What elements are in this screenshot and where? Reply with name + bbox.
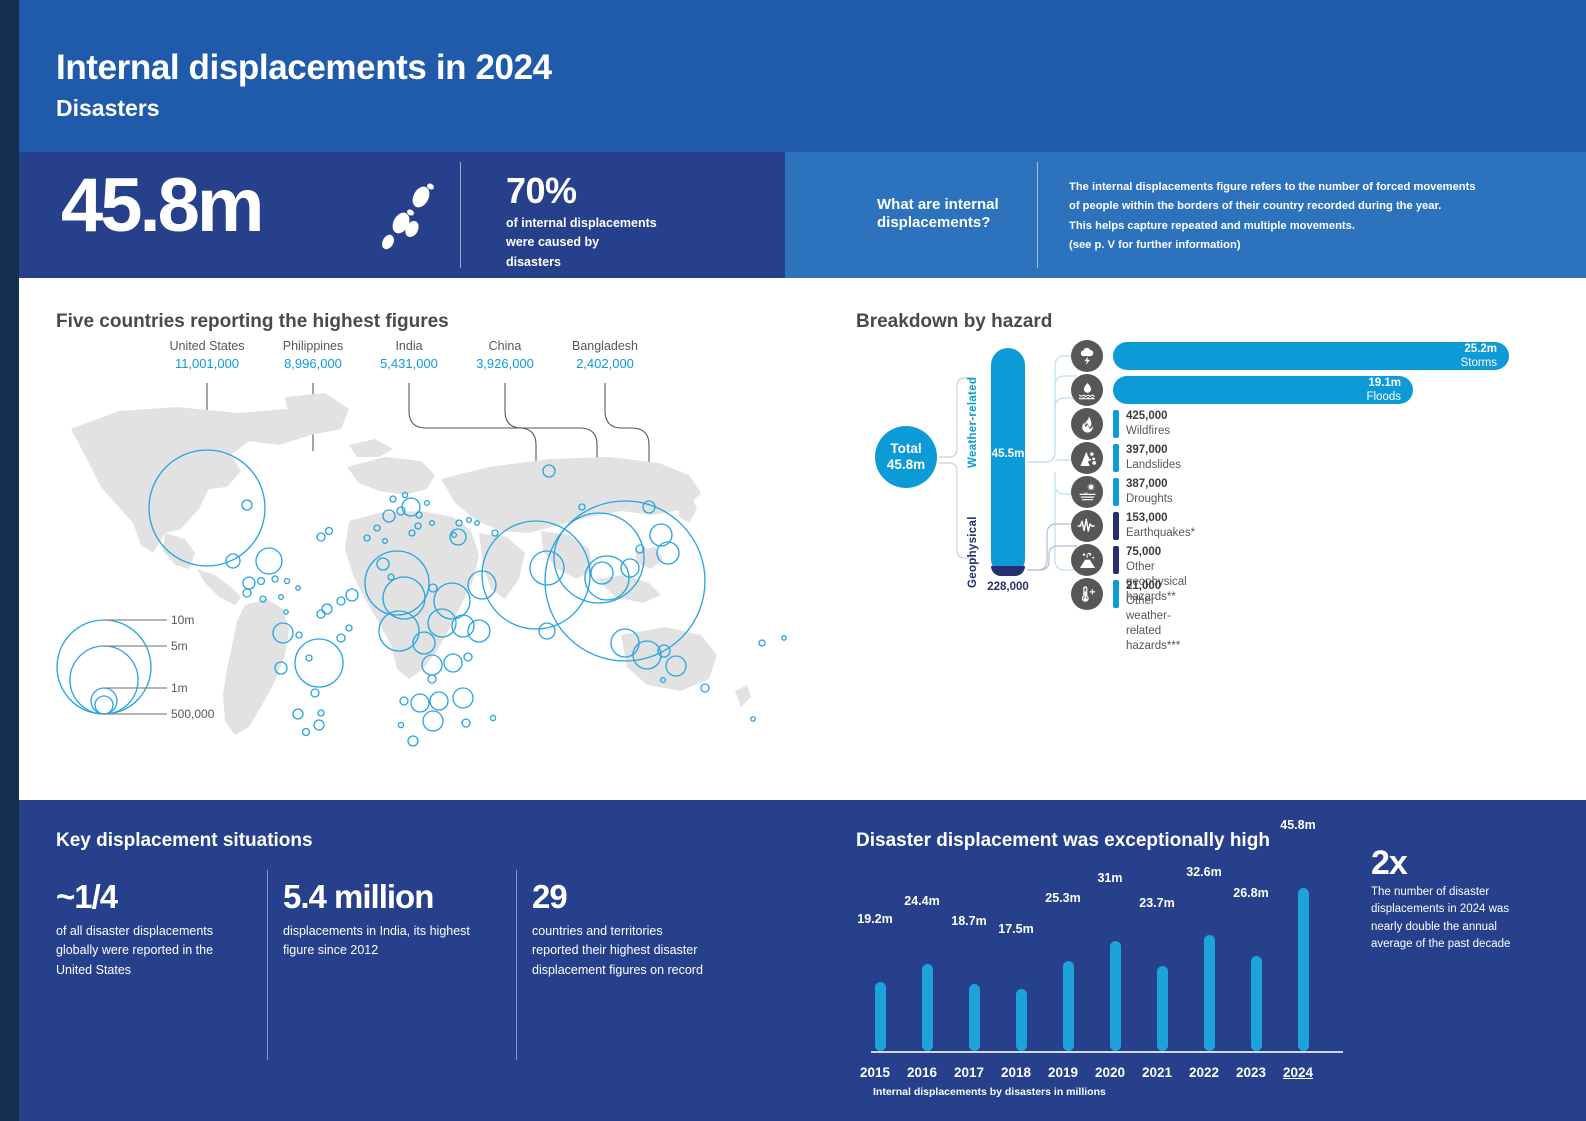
legend-label-500000: 500,000 bbox=[171, 707, 214, 721]
key-item-countries: 29 countries and territories reported th… bbox=[532, 880, 712, 981]
key-item-text: countries and territories reported their… bbox=[532, 922, 712, 981]
bar-2022 bbox=[1204, 935, 1215, 1051]
key-situations-title: Key displacement situations bbox=[56, 830, 313, 852]
earthquakes-name: Earthquakes* bbox=[1126, 526, 1195, 541]
landslides-value: 397,000 bbox=[1126, 443, 1181, 458]
country-callout-bangladesh: Bangladesh 2,402,000 bbox=[535, 338, 675, 372]
earthquakes-bar bbox=[1113, 512, 1119, 540]
bar-value-2019: 25.3m bbox=[1035, 891, 1091, 905]
landslides-name: Landslides bbox=[1126, 458, 1181, 473]
percent-stat: 70% of internal displacements were cause… bbox=[506, 172, 756, 272]
landslides-label: 397,000 Landslides bbox=[1126, 443, 1181, 473]
bar-year-2024: 2024 bbox=[1270, 1065, 1326, 1080]
floods-bar: 19.1m Floods bbox=[1113, 376, 1413, 404]
weather-related-total: 45.5m bbox=[991, 448, 1025, 460]
bar-value-2024: 45.8m bbox=[1270, 818, 1326, 832]
header-banner: Internal displacements in 2024 Disasters bbox=[19, 0, 1586, 152]
hazard-breakdown: Total 45.8m bbox=[839, 338, 1579, 608]
whatis-line-1: of people within the borders of their co… bbox=[1069, 197, 1569, 216]
what-are-internal-displacements-heading: What are internal displacements? bbox=[877, 196, 1047, 233]
floods-name: Floods bbox=[1113, 391, 1401, 405]
map-canvas bbox=[49, 383, 829, 783]
infographic-page: Internal displacements in 2024 Disasters… bbox=[0, 0, 1586, 1121]
bar-2017 bbox=[969, 984, 980, 1051]
earthquakes-label: 153,000 Earthquakes* bbox=[1126, 511, 1195, 541]
country-callouts: United States 11,001,000 Philippines 8,9… bbox=[49, 338, 829, 388]
header-stats-band: 45.8m 70% of internal displacements were… bbox=[19, 152, 1586, 278]
bar-2020 bbox=[1110, 941, 1121, 1051]
band-divider-1 bbox=[460, 162, 461, 268]
main-content: Five countries reporting the highest fig… bbox=[19, 278, 1586, 800]
bar-2016 bbox=[922, 964, 933, 1051]
key-item-quarter: ~1/4 of all disaster displacements globa… bbox=[56, 880, 231, 981]
percent-caption-line-2: were caused by bbox=[506, 233, 756, 252]
headline-figure: 45.8m bbox=[61, 168, 262, 244]
bar-value-2015: 19.2m bbox=[847, 912, 903, 926]
storms-name: Storms bbox=[1113, 357, 1497, 371]
bar-value-2021: 23.7m bbox=[1129, 896, 1185, 910]
callout-2x-value: 2x bbox=[1371, 846, 1531, 880]
map-legend bbox=[57, 620, 167, 714]
geophysical-bar bbox=[991, 566, 1025, 576]
landslides-bar bbox=[1113, 444, 1119, 472]
wildfire-icon bbox=[1071, 408, 1103, 440]
whatis-line-2: This helps capture repeated and multiple… bbox=[1069, 217, 1569, 236]
storm-icon bbox=[1071, 340, 1103, 372]
storms-value: 25.2m bbox=[1113, 343, 1497, 357]
wildfires-name: Wildfires bbox=[1126, 424, 1170, 439]
droughts-bar bbox=[1113, 478, 1119, 506]
bar-2023 bbox=[1251, 956, 1262, 1051]
other-geophysical-value: 75,000 bbox=[1126, 545, 1187, 560]
bar-value-2020: 31m bbox=[1082, 871, 1138, 885]
key-item-text: displacements in India, its highest figu… bbox=[283, 922, 498, 962]
percent-caption: of internal displacements were caused by… bbox=[506, 214, 756, 272]
floods-value: 19.1m bbox=[1113, 377, 1401, 391]
country-name: Bangladesh bbox=[535, 338, 675, 355]
other-weather-bar bbox=[1113, 580, 1119, 608]
weather-related-axis-label: Weather-related bbox=[967, 377, 979, 468]
key-divider-2 bbox=[516, 870, 517, 1060]
other-weather-value: 21,000 bbox=[1126, 579, 1180, 594]
droughts-value: 387,000 bbox=[1126, 477, 1173, 492]
wildfires-label: 425,000 Wildfires bbox=[1126, 409, 1170, 439]
flood-icon bbox=[1071, 374, 1103, 406]
storms-bar: 25.2m Storms bbox=[1113, 342, 1509, 370]
wildfires-bar bbox=[1113, 410, 1119, 438]
droughts-name: Droughts bbox=[1126, 492, 1173, 507]
other-geophysical-bar bbox=[1113, 546, 1119, 574]
percent-value: 70% bbox=[506, 172, 756, 210]
bar-value-2016: 24.4m bbox=[894, 894, 950, 908]
earthquake-icon bbox=[1071, 510, 1103, 542]
callout-2x-text: The number of disaster displacements in … bbox=[1371, 884, 1531, 954]
yearly-bar-chart: 19.2m 2015 24.4m 2016 18.7m 2017 17.5m 2… bbox=[855, 840, 1355, 1100]
geophysical-axis-label: Geophysical bbox=[967, 516, 979, 588]
volcano-icon bbox=[1071, 544, 1103, 576]
legend-label-1m: 1m bbox=[171, 681, 188, 695]
other-weather-label: 21,000 Other weather-related hazards*** bbox=[1126, 579, 1180, 654]
bar-2019 bbox=[1063, 961, 1074, 1051]
page-title: Internal displacements in 2024 bbox=[56, 48, 552, 88]
bar-2015 bbox=[875, 982, 886, 1051]
what-are-internal-displacements-body: The internal displacements figure refers… bbox=[1069, 178, 1569, 255]
footprints-icon bbox=[374, 182, 444, 252]
drought-icon bbox=[1071, 476, 1103, 508]
other-weather-name: Other weather-related hazards*** bbox=[1126, 594, 1180, 654]
whatis-line-0: The internal displacements figure refers… bbox=[1069, 178, 1569, 197]
bar-2024 bbox=[1298, 888, 1309, 1051]
bar-value-2023: 26.8m bbox=[1223, 886, 1279, 900]
bar-2018 bbox=[1016, 989, 1027, 1051]
weather-related-bar bbox=[991, 348, 1025, 576]
bar-value-2022: 32.6m bbox=[1176, 865, 1232, 879]
bar-value-2018: 17.5m bbox=[988, 922, 1044, 936]
key-item-value: ~1/4 bbox=[56, 880, 231, 915]
legend-label-10m: 10m bbox=[171, 613, 194, 627]
bar-2021 bbox=[1157, 966, 1168, 1051]
percent-caption-line-1: of internal displacements bbox=[506, 214, 756, 233]
map-section-title: Five countries reporting the highest fig… bbox=[56, 311, 449, 333]
wildfires-value: 425,000 bbox=[1126, 409, 1170, 424]
legend-label-5m: 5m bbox=[171, 639, 188, 653]
bottom-section: Key displacement situations ~1/4 of all … bbox=[19, 800, 1586, 1121]
left-edge-rail bbox=[0, 0, 19, 1121]
key-item-text: of all disaster displacements globally w… bbox=[56, 922, 231, 981]
droughts-label: 387,000 Droughts bbox=[1126, 477, 1173, 507]
chart-caption: Internal displacements by disasters in m… bbox=[873, 1086, 1106, 1098]
chart-axis-line bbox=[871, 1051, 1343, 1053]
percent-caption-line-3: disasters bbox=[506, 253, 756, 272]
key-divider-1 bbox=[267, 870, 268, 1060]
earthquakes-value: 153,000 bbox=[1126, 511, 1195, 526]
world-map: United States 11,001,000 Philippines 8,9… bbox=[49, 338, 829, 788]
key-item-value: 29 bbox=[532, 880, 712, 915]
hazard-section-title: Breakdown by hazard bbox=[856, 311, 1052, 333]
whatis-line-3: (see p. V for further information) bbox=[1069, 236, 1569, 255]
key-item-value: 5.4 million bbox=[283, 880, 498, 915]
callout-2x: 2x The number of disaster displacements … bbox=[1371, 846, 1531, 954]
temperature-icon bbox=[1071, 578, 1103, 610]
page-subtitle: Disasters bbox=[56, 95, 160, 122]
landslide-icon bbox=[1071, 442, 1103, 474]
key-item-india: 5.4 million displacements in India, its … bbox=[283, 880, 498, 961]
country-value: 2,402,000 bbox=[535, 355, 675, 373]
